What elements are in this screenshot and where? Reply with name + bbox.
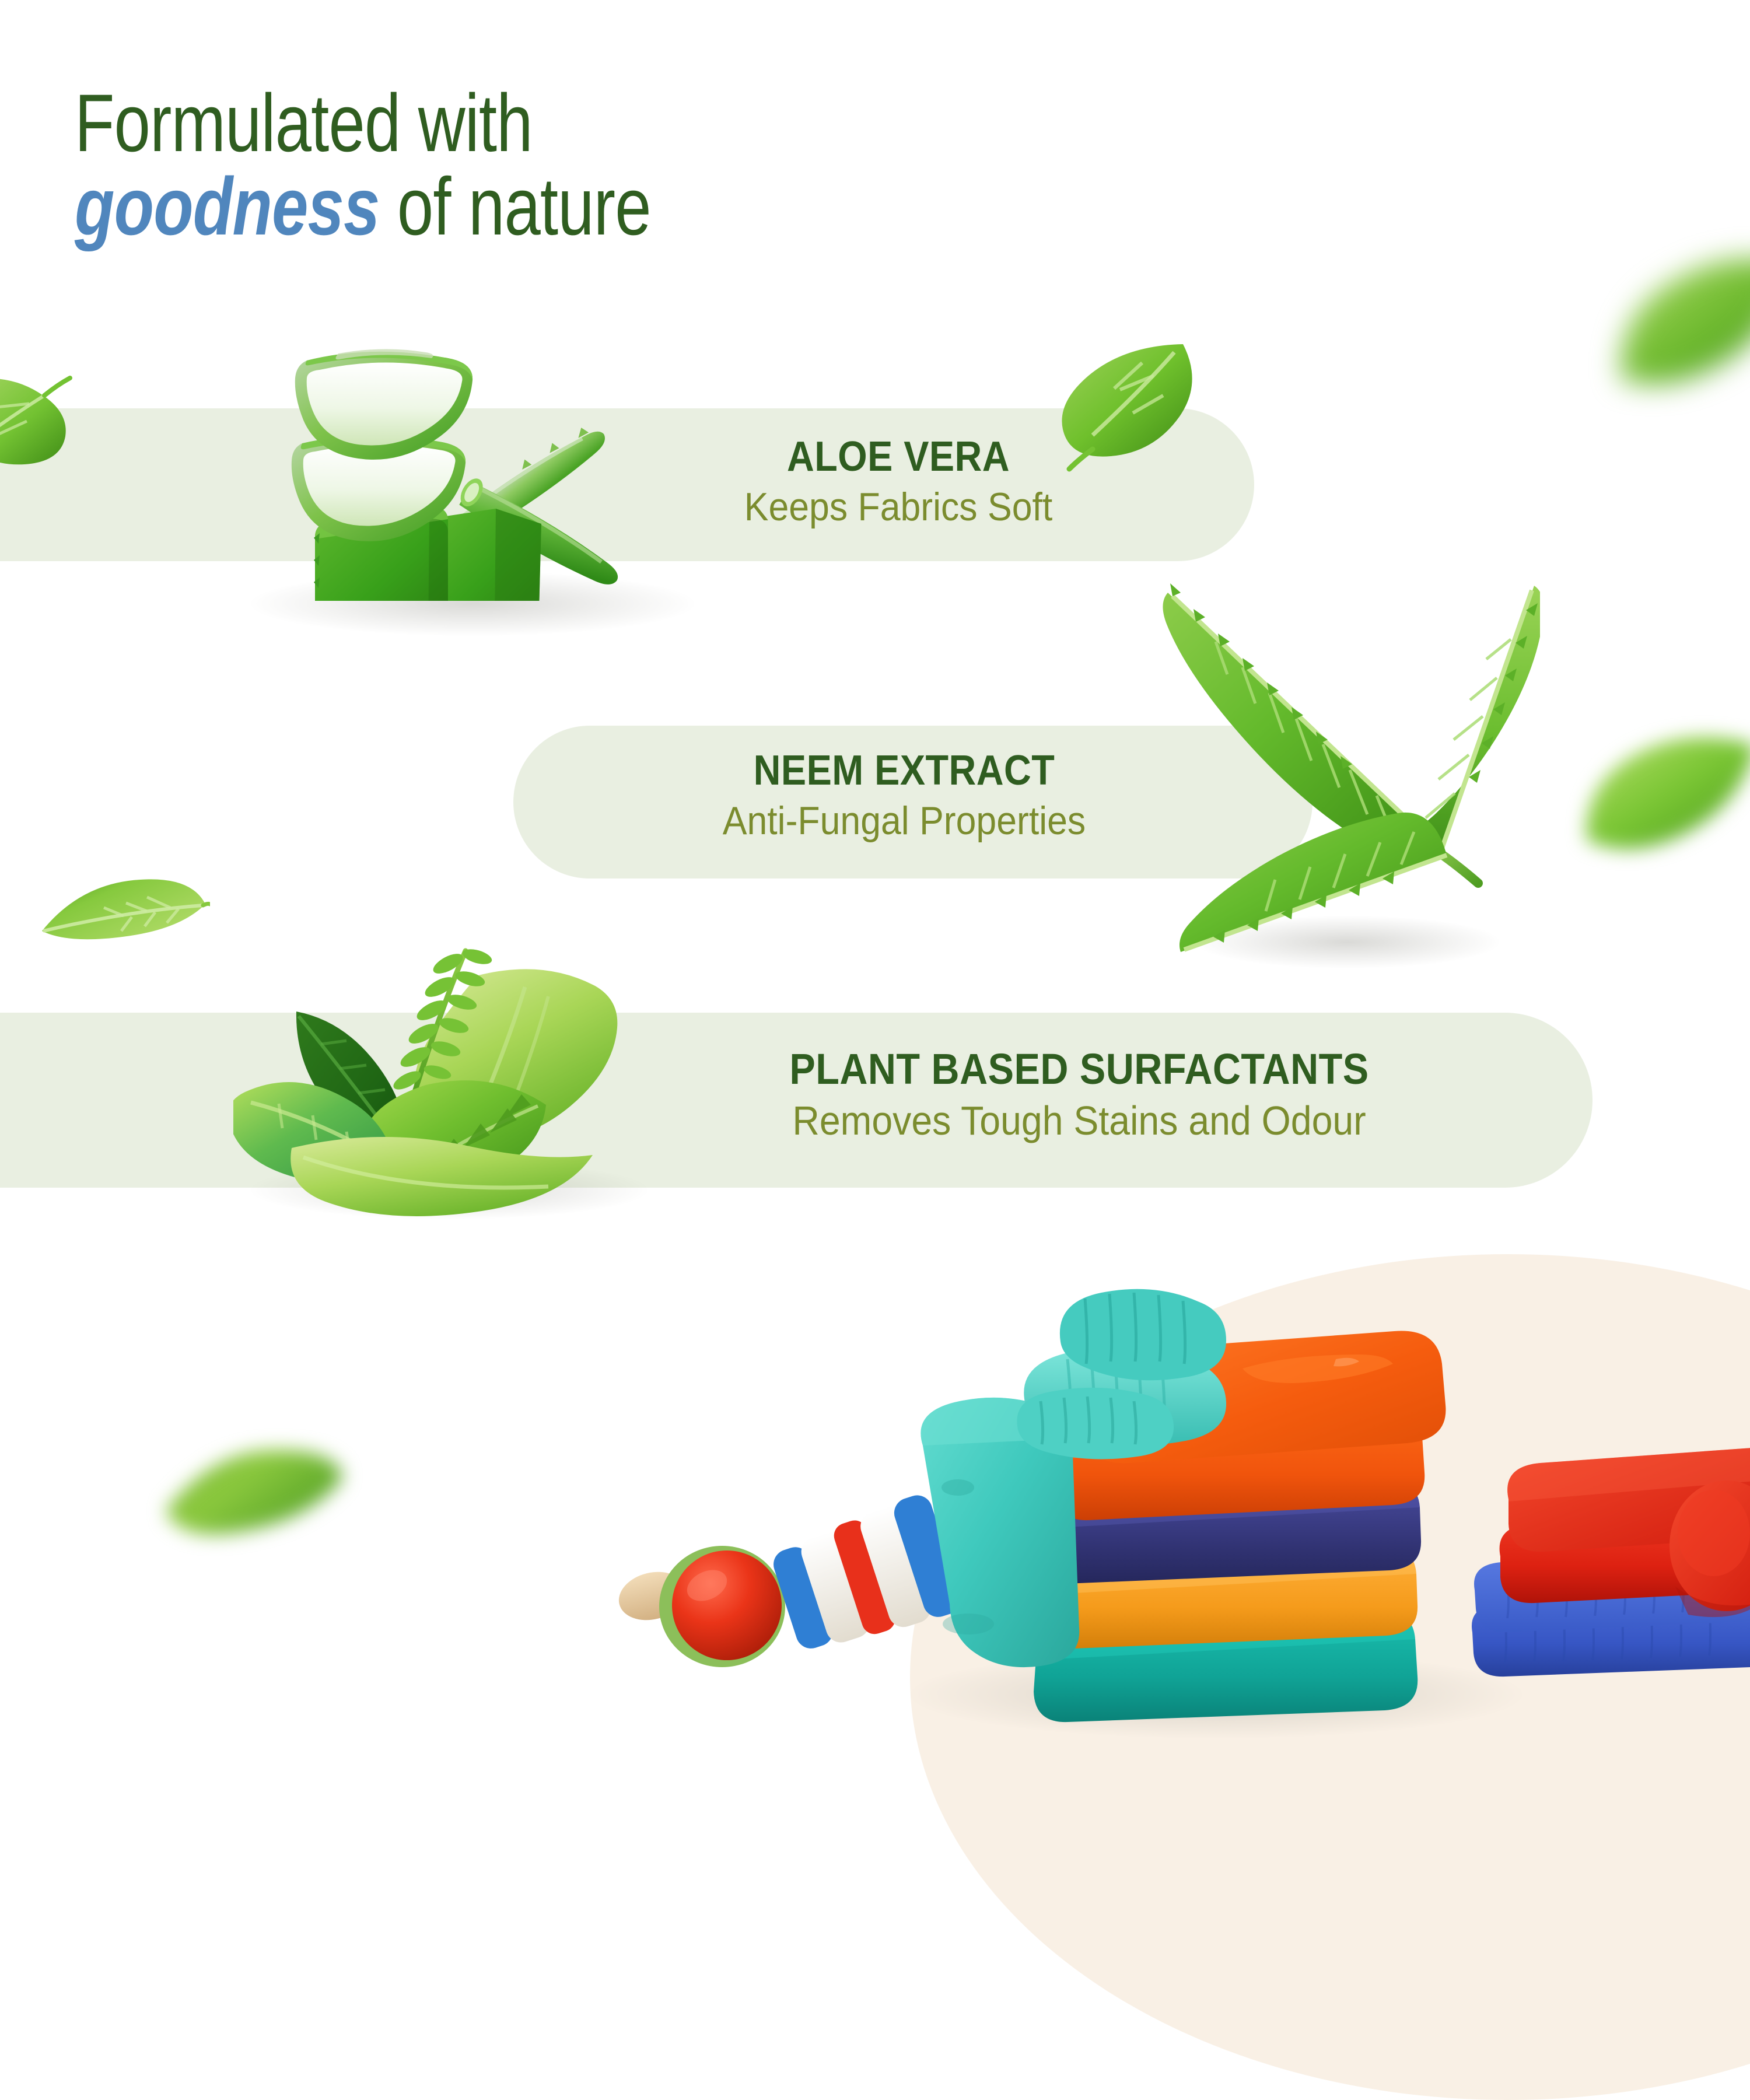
leaf-mid-right-blurred-icon bbox=[1575, 729, 1750, 881]
headline-line-2-rest: of nature bbox=[380, 160, 651, 252]
ingredient-text-aloe-vera: ALOE VERA Keeps Fabrics Soft bbox=[717, 433, 1079, 530]
page-title: Formulated with goodness of nature bbox=[75, 82, 795, 249]
neem-leaf-illustration bbox=[1155, 572, 1540, 957]
side-clothes-stack bbox=[1470, 1412, 1750, 1715]
leaf-top-right-blurred-icon bbox=[1604, 245, 1750, 408]
ingredient-title-aloe-vera: ALOE VERA bbox=[736, 433, 1061, 481]
ingredient-text-plant-based-surfactants: PLANT BASED SURFACTANTS Removes Tough St… bbox=[636, 1044, 1522, 1144]
leaf-left-edge-top-icon bbox=[0, 367, 82, 484]
headline-line-1: Formulated with bbox=[75, 82, 651, 165]
ingredient-subtitle-plant-based-surfactants: Removes Tough Stains and Odour bbox=[671, 1097, 1487, 1144]
folded-clothes-stack bbox=[892, 1242, 1476, 1750]
ingredient-title-plant-based-surfactants: PLANT BASED SURFACTANTS bbox=[680, 1044, 1478, 1094]
leaf-bottom-left-blurred-icon bbox=[157, 1441, 350, 1569]
mixed-leaves-illustration bbox=[233, 933, 653, 1225]
ingredient-title-neem-extract: NEEM EXTRACT bbox=[615, 747, 1193, 794]
ingredient-subtitle-aloe-vera: Keeps Fabrics Soft bbox=[732, 484, 1065, 530]
leaf-on-aloe-bar-icon bbox=[1060, 339, 1200, 474]
headline-emphasis: goodness bbox=[75, 160, 380, 252]
headline-line-2: goodness of nature bbox=[75, 165, 651, 249]
leaf-mid-left-small-icon bbox=[41, 877, 210, 965]
ingredient-subtitle-neem-extract: Anti-Fungal Properties bbox=[609, 798, 1199, 843]
aloe-vera-illustration bbox=[251, 327, 700, 601]
ingredient-text-neem-extract: NEEM EXTRACT Anti-Fungal Properties bbox=[583, 747, 1225, 843]
poster-canvas: Formulated with goodness of nature ALOE … bbox=[0, 0, 1750, 1750]
